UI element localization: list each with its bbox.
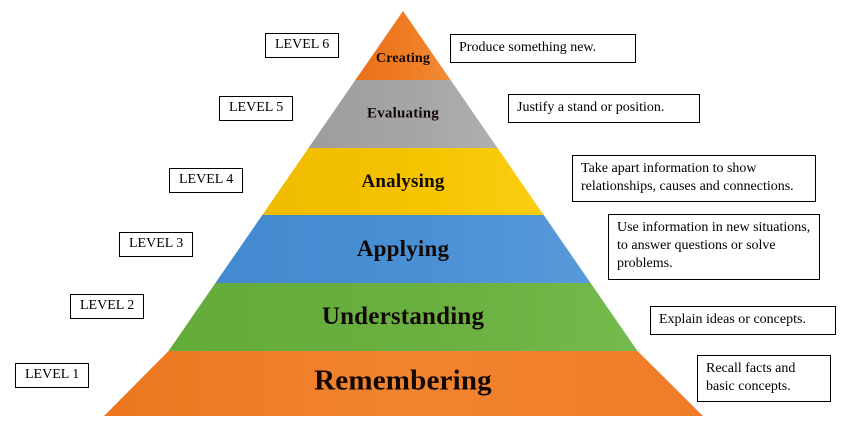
level-box-6: LEVEL 6	[265, 33, 339, 58]
level-box-5: LEVEL 5	[219, 96, 293, 121]
band-label-applying: Applying	[357, 236, 449, 262]
description-box-applying: Use information in new situations, to an…	[608, 214, 820, 280]
description-box-creating: Produce something new.	[450, 34, 636, 63]
band-label-remembering: Remembering	[314, 365, 492, 398]
pyramid-band-creating	[355, 11, 450, 80]
level-box-3: LEVEL 3	[119, 232, 193, 257]
band-label-evaluating: Evaluating	[367, 106, 439, 123]
description-box-remembering: Recall facts and basic concepts.	[697, 355, 831, 402]
level-box-2: LEVEL 2	[70, 294, 144, 319]
description-box-understanding: Explain ideas or concepts.	[650, 306, 836, 335]
description-box-evaluating: Justify a stand or position.	[508, 94, 700, 123]
band-label-creating: Creating	[376, 51, 430, 67]
blooms-taxonomy-diagram: Creating Evaluating Analysing Applying U…	[0, 0, 853, 430]
band-label-analysing: Analysing	[361, 171, 444, 193]
level-box-4: LEVEL 4	[169, 168, 243, 193]
band-label-understanding: Understanding	[322, 303, 484, 331]
level-box-1: LEVEL 1	[15, 363, 89, 388]
description-box-analysing: Take apart information to show relations…	[572, 155, 816, 202]
